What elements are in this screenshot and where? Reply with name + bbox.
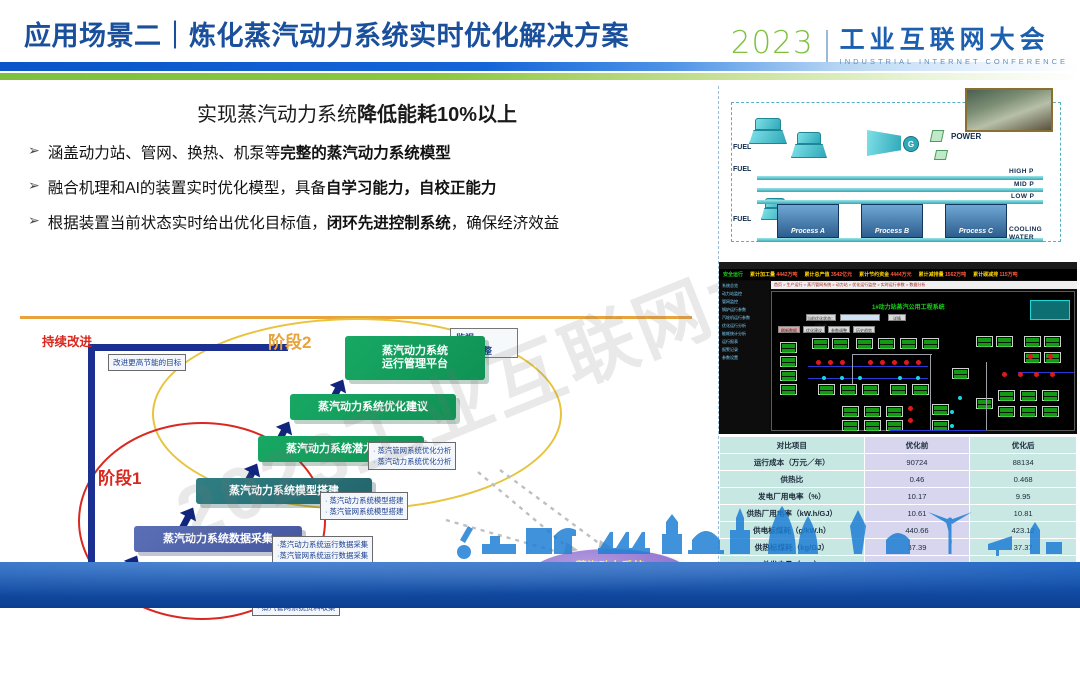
- annotation-line: ·蒸汽动力系统运行数据采集: [277, 539, 368, 550]
- process-c-box: Process C: [945, 204, 1007, 238]
- scada-tag[interactable]: [862, 384, 879, 395]
- flow-step-label: 蒸汽动力系统优化建议: [318, 401, 428, 414]
- fuel-label-1: FUEL: [733, 144, 751, 151]
- scada-valve-open[interactable]: [916, 376, 920, 380]
- row-item: 运行成本（万元／年）: [720, 454, 865, 471]
- scada-pipe: [986, 362, 987, 430]
- scada-tag[interactable]: [780, 356, 797, 367]
- scada-tag[interactable]: [976, 398, 993, 409]
- scada-legend-panel: [1030, 300, 1070, 320]
- logo-title-cn: 工业互联网大会: [840, 28, 1068, 53]
- bullet-plain: 融合机理和AI的装置实时优化模型，具备: [48, 180, 326, 197]
- conference-logo: 2023 工业互联网大会 INDUSTRIAL INTERNET CONFERE…: [731, 28, 1068, 66]
- generator-icon: G: [903, 136, 919, 152]
- scada-tag[interactable]: [998, 390, 1015, 401]
- scada-button-refresh[interactable]: 刷新数据: [778, 326, 800, 333]
- scada-valve-closed[interactable]: [892, 360, 897, 365]
- page-title: 应用场景二｜炼化蒸汽动力系统实时优化解决方案: [24, 14, 629, 53]
- scada-diagram-canvas[interactable]: 1#动力站蒸汽公用工程系统 当前优化状态：运行中 详情 刷新数据 优化建议 参数…: [771, 291, 1075, 431]
- bullet-plain: 根据装置当前状态实时给出优化目标值，: [48, 215, 327, 232]
- scada-sidebar-item[interactable]: 系统总览: [722, 283, 769, 289]
- cooling-water-label: COOLING WATER: [1009, 226, 1042, 242]
- scada-sidebar-item[interactable]: 动力站监控: [722, 291, 769, 297]
- bullet-strong: 自学习能力，自校正能力: [326, 180, 497, 197]
- bullet-arrow-icon: ➢: [28, 141, 40, 159]
- scada-valve-closed[interactable]: [908, 406, 913, 411]
- scada-sidebar-item[interactable]: 优化运行分析: [722, 323, 769, 329]
- stage1-label: 阶段1: [98, 464, 141, 489]
- scada-valve-closed[interactable]: [904, 360, 909, 365]
- scada-breadcrumb: 首页 > 生产运行 > 蒸汽管网系统 > 动力站 > 优化运行监控 > 实时运行…: [771, 281, 1077, 289]
- scada-valve-open[interactable]: [822, 376, 826, 380]
- col-item: 对比项目: [720, 437, 865, 454]
- scada-tag[interactable]: [1042, 406, 1059, 417]
- scada-valve-closed[interactable]: [1028, 354, 1033, 359]
- scada-metric: 累计碳减排 115万吨: [973, 271, 1017, 278]
- improve-goal-note: 改进更高节能的目标: [108, 354, 186, 371]
- scada-button-advice[interactable]: 优化建议: [803, 326, 825, 333]
- bullet-strong: 完整的蒸汽动力系统模型: [280, 145, 451, 162]
- table-header-row: 对比项目 优化前 优化后: [720, 437, 1077, 454]
- footer-band: [0, 562, 1080, 608]
- scada-sidebar-item[interactable]: 能耗统计分析: [722, 331, 769, 337]
- scada-valve-open[interactable]: [950, 410, 954, 414]
- process-c-label: Process C: [959, 228, 993, 235]
- scada-tag[interactable]: [840, 384, 857, 395]
- logo-divider: [826, 30, 828, 62]
- flow-step-optimization-advice[interactable]: 蒸汽动力系统优化建议: [290, 394, 456, 420]
- scada-tag[interactable]: [890, 384, 907, 395]
- scada-valve-closed[interactable]: [868, 360, 873, 365]
- boiler-1-body: [749, 130, 787, 144]
- title-rule-green: [0, 73, 1080, 80]
- scada-tag[interactable]: [780, 384, 797, 395]
- scada-brand: 安全运行: [723, 271, 743, 278]
- annotation-optimization-analysis: · 蒸汽管网系统优化分析 · 蒸汽动力系统优化分析: [368, 442, 456, 470]
- scada-button-adjust[interactable]: 参数调整: [828, 326, 850, 333]
- scada-tag[interactable]: [832, 338, 849, 349]
- scada-valve-closed[interactable]: [880, 360, 885, 365]
- scada-pipe: [852, 354, 932, 355]
- scada-tag[interactable]: [1020, 390, 1037, 401]
- scada-tag[interactable]: [886, 406, 903, 417]
- scada-valve-closed[interactable]: [816, 360, 821, 365]
- continuous-improvement-label: 持续改进: [42, 331, 92, 350]
- header-high-pressure: [757, 176, 1043, 180]
- scada-tag[interactable]: [922, 338, 939, 349]
- bullet-item: ➢ 涵盖动力站、管网、换热、机泵等完整的蒸汽动力系统模型: [28, 141, 714, 163]
- flow-step-label: 蒸汽动力系统 运行管理平台: [382, 345, 448, 370]
- scada-pipe: [930, 354, 931, 430]
- steam-power-schematic: FUEL FUEL FUEL G POWER HIGH P MID P LOW …: [719, 86, 1077, 260]
- table-row: 供热比 0.46 0.468: [720, 471, 1077, 488]
- scada-canvas-title: 1#动力站蒸汽公用工程系统: [872, 302, 945, 311]
- scada-tag[interactable]: [1020, 406, 1037, 417]
- scada-valve-open[interactable]: [858, 376, 862, 380]
- scada-tag[interactable]: [932, 404, 949, 415]
- scada-tag[interactable]: [842, 420, 859, 431]
- scada-metric: 累计加工量 4442万吨: [750, 271, 798, 278]
- bullet-plain: 涵盖动力站、管网、换热、机泵等: [48, 145, 281, 162]
- scada-tag[interactable]: [912, 384, 929, 395]
- goal-strong: 降低能耗10%以上: [357, 104, 517, 126]
- scada-tag[interactable]: [818, 384, 835, 395]
- flow-step-label: 蒸汽动力系统数据采集: [163, 533, 273, 546]
- scada-valve-closed[interactable]: [1018, 372, 1023, 377]
- scada-metrics-bar: 安全运行 累计加工量 4442万吨 累计总产值 3542亿元 累计节约资金 44…: [719, 269, 1077, 280]
- scada-sidebar-item[interactable]: 锅炉运行参数: [722, 307, 769, 313]
- process-a-box: Process A: [777, 204, 839, 238]
- scada-sidebar-item[interactable]: 汽轮机运行参数: [722, 315, 769, 321]
- scada-tag[interactable]: [864, 406, 881, 417]
- scada-metric: 累计节约资金 4444万元: [859, 271, 912, 278]
- bullet-item: ➢ 融合机理和AI的装置实时优化模型，具备自学习能力，自校正能力: [28, 176, 714, 198]
- bullet-text: 根据装置当前状态实时给出优化目标值，闭环先进控制系统，确保经济效益: [48, 211, 560, 233]
- annotation-runtime-data: ·蒸汽动力系统运行数据采集 ·蒸汽管网系统运行数据采集: [272, 536, 373, 564]
- goal-prefix: 实现蒸汽动力系统: [197, 104, 357, 126]
- scada-valve-open[interactable]: [950, 424, 954, 428]
- scada-pipe: [852, 354, 853, 384]
- scada-tag[interactable]: [780, 342, 797, 353]
- header-label-mid: MID P: [1014, 181, 1034, 188]
- power-label: POWER: [951, 132, 981, 141]
- scada-metric: 累计减排量 1562万吨: [919, 271, 967, 278]
- row-after: 0.468: [970, 471, 1077, 488]
- scada-sidebar-item[interactable]: 参数设置: [722, 355, 769, 361]
- scada-status-value: [840, 314, 880, 321]
- scada-valve-closed[interactable]: [828, 360, 833, 365]
- scada-valve-closed[interactable]: [908, 418, 913, 423]
- scada-screenshot[interactable]: 安全运行 累计加工量 4442万吨 累计总产值 3542亿元 累计节约资金 44…: [719, 262, 1077, 434]
- bullet-arrow-icon: ➢: [28, 211, 40, 229]
- scada-detail-button[interactable]: 详情: [888, 314, 906, 321]
- scada-valve-open[interactable]: [958, 396, 962, 400]
- row-before: 0.46: [864, 471, 970, 488]
- boiler-1-top: [755, 118, 781, 130]
- scada-tag[interactable]: [864, 420, 881, 431]
- bullet-text: 融合机理和AI的装置实时优化模型，具备自学习能力，自校正能力: [48, 176, 497, 198]
- annotation-model-build: · 蒸汽动力系统模型搭建 · 蒸汽管网系统模型搭建: [320, 492, 408, 520]
- process-a-label: Process A: [791, 228, 825, 235]
- scada-sidebar-item[interactable]: 管网监控: [722, 299, 769, 305]
- table-row: 运行成本（万元／年） 90724 88134: [720, 454, 1077, 471]
- power-transformer-icon: [930, 130, 945, 142]
- scada-pipe: [808, 378, 928, 379]
- scada-sidebar[interactable]: 系统总览 动力站监控 管网监控 锅炉运行参数 汽轮机运行参数 优化运行分析 能耗…: [719, 281, 769, 434]
- scada-valve-closed[interactable]: [1048, 354, 1053, 359]
- city-skyline-decoration: [430, 500, 1080, 562]
- bullet-plain-tail: ，确保经济效益: [451, 215, 560, 232]
- scada-tag[interactable]: [952, 368, 969, 379]
- scada-tag[interactable]: [1044, 336, 1061, 347]
- power-transformer-icon-2: [934, 150, 948, 160]
- scada-sidebar-item[interactable]: 报警记录: [722, 347, 769, 353]
- col-after: 优化后: [970, 437, 1077, 454]
- col-before: 优化前: [864, 437, 970, 454]
- header-mid-pressure: [757, 188, 1043, 192]
- bullet-item: ➢ 根据装置当前状态实时给出优化目标值，闭环先进控制系统，确保经济效益: [28, 211, 714, 233]
- bullet-list: ➢ 涵盖动力站、管网、换热、机泵等完整的蒸汽动力系统模型 ➢ 融合机理和AI的装…: [28, 141, 714, 233]
- annotation-line: · 蒸汽动力系统模型搭建: [325, 495, 403, 506]
- plant-photo-inset: [965, 88, 1053, 132]
- scada-valve-closed[interactable]: [1002, 372, 1007, 377]
- scada-tag[interactable]: [856, 338, 873, 349]
- logo-year: 2023: [731, 28, 814, 59]
- boiler-2-body: [791, 144, 827, 158]
- scada-button-trend[interactable]: 历史趋势: [853, 326, 875, 333]
- scada-window-bar: [719, 262, 1077, 269]
- scada-tag[interactable]: [842, 406, 859, 417]
- boiler-2-top: [797, 132, 821, 144]
- scada-valve-closed[interactable]: [1034, 372, 1039, 377]
- fuel-label-2: FUEL: [733, 166, 751, 173]
- scada-pipe: [1018, 372, 1074, 373]
- slide-header: 应用场景二｜炼化蒸汽动力系统实时优化解决方案 2023 工业互联网大会 INDU…: [0, 0, 1080, 84]
- annotation-line: · 蒸汽动力系统优化分析: [373, 456, 451, 467]
- annotation-line: ·蒸汽管网系统运行数据采集: [277, 550, 368, 561]
- scada-valve-closed[interactable]: [1050, 372, 1055, 377]
- scada-tag[interactable]: [780, 370, 797, 381]
- scada-valve-closed[interactable]: [840, 360, 845, 365]
- scada-valve-open[interactable]: [840, 376, 844, 380]
- scada-pipe: [890, 430, 986, 431]
- goal-statement: 实现蒸汽动力系统降低能耗10%以上: [0, 98, 714, 127]
- process-b-box: Process B: [861, 204, 923, 238]
- bullet-strong: 闭环先进控制系统: [327, 215, 451, 232]
- fuel-label-3: FUEL: [733, 216, 751, 223]
- flow-step-platform[interactable]: 蒸汽动力系统 运行管理平台: [345, 336, 485, 380]
- scada-status-field[interactable]: 当前优化状态：运行中: [806, 314, 836, 321]
- scada-valve-open[interactable]: [898, 376, 902, 380]
- scada-tag[interactable]: [998, 406, 1015, 417]
- scada-tag[interactable]: [900, 338, 917, 349]
- annotation-line: · 蒸汽管网系统模型搭建: [325, 506, 403, 517]
- scada-metric: 累计总产值 3542亿元: [805, 271, 853, 278]
- scada-sidebar-item[interactable]: 运行报表: [722, 339, 769, 345]
- scada-tag[interactable]: [1042, 390, 1059, 401]
- scada-valve-closed[interactable]: [916, 360, 921, 365]
- row-before: 90724: [864, 454, 970, 471]
- cooling-water-header: [757, 238, 1043, 242]
- header-label-low: LOW P: [1011, 193, 1034, 200]
- process-b-label: Process B: [875, 228, 909, 235]
- annotation-line: · 蒸汽管网系统优化分析: [373, 445, 451, 456]
- row-item: 供热比: [720, 471, 865, 488]
- bullet-text: 涵盖动力站、管网、换热、机泵等完整的蒸汽动力系统模型: [48, 141, 451, 163]
- scada-tag[interactable]: [878, 338, 895, 349]
- header-label-high: HIGH P: [1009, 168, 1034, 175]
- row-after: 88134: [970, 454, 1077, 471]
- scada-tag[interactable]: [1024, 336, 1041, 347]
- scada-pipe: [808, 366, 928, 367]
- scada-tag[interactable]: [812, 338, 829, 349]
- logo-title-en: INDUSTRIAL INTERNET CONFERENCE: [840, 57, 1068, 66]
- scada-tag[interactable]: [996, 336, 1013, 347]
- bullet-arrow-icon: ➢: [28, 176, 40, 194]
- stage2-label: 阶段2: [268, 328, 311, 353]
- scada-tag[interactable]: [976, 336, 993, 347]
